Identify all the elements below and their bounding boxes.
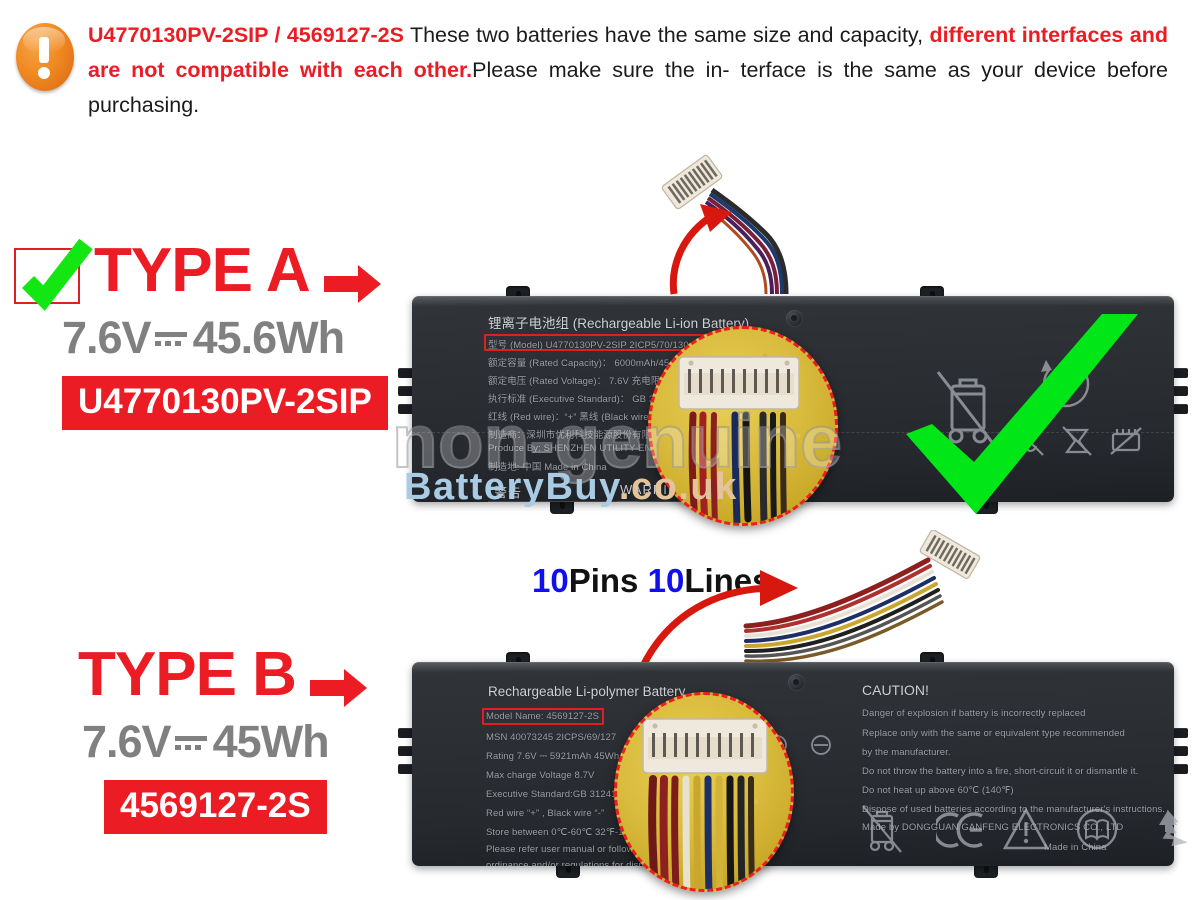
type-b-caution-row: by the manufacturer. (862, 747, 951, 758)
dc-current-icon (155, 328, 189, 354)
warning-triangle-icon (1002, 806, 1050, 852)
type-a-label-row: 红线 (Red wire)：“+” 黑线 (Black wire)：“-” (488, 409, 671, 423)
type-b-label-row: Rating 7.6V ⎓ 5921mAh 45Wh (486, 751, 619, 762)
type-b-connector-zoom (614, 692, 794, 892)
type-b-caution-row: Replace only with the same or equivalent… (862, 728, 1125, 739)
type-b-model-chip: 4569127-2S (104, 780, 327, 834)
header-notice: U4770130PV-2SIP / 4569127-2S These two b… (0, 0, 1200, 126)
type-b-label-row: Red wire “+” , Black wire “-” (486, 808, 604, 819)
arrow-right-icon (310, 667, 368, 714)
type-a-section: TYPE A 7.6V45.6Wh U4770130PV-2SIP 10Pins… (0, 140, 1200, 540)
notice-text: U4770130PV-2SIP / 4569127-2S These two b… (88, 18, 1168, 123)
battery-screw (786, 310, 803, 327)
type-b-battery: Rechargeable Li-polymer Battery Model Na… (398, 610, 1188, 890)
type-b-caution-head: CAUTION! (862, 682, 929, 698)
type-a-spec-row: 7.6V45.6Wh (62, 314, 344, 362)
type-b-caution-row: Do not throw the battery into a fire, sh… (862, 766, 1138, 777)
type-b-caution-row: Danger of explosion if battery is incorr… (862, 708, 1085, 719)
arrow-right-icon (324, 263, 382, 310)
green-check-icon (888, 306, 1158, 536)
type-b-capacity: 45Wh (213, 716, 329, 767)
type-a-voltage: 7.6V (62, 312, 151, 363)
type-a-model-chip: U4770130PV-2SIP (62, 376, 388, 430)
type-a-title: TYPE A (94, 236, 310, 305)
notice-models: U4770130PV-2SIP / 4569127-2S (88, 23, 404, 47)
notice-text-part1: These two batteries have the same size a… (410, 23, 923, 47)
type-a-warn-cn-head: 警告 (494, 482, 522, 501)
battery-side-tab (1172, 386, 1188, 396)
battery-screw (788, 674, 805, 691)
type-b-caution-row: Do not heat up above 60℃ (140℉) (862, 785, 1014, 796)
battery-side-tab (1172, 404, 1188, 414)
type-b-pins-count: 10 (532, 562, 569, 599)
type-b-title-row: TYPE B (78, 644, 368, 714)
type-b-voltage: 7.6V (82, 716, 171, 767)
type-b-pins-word: Pins (569, 562, 639, 599)
notice-text-part3: Please make sure the in- (472, 58, 729, 82)
type-a-label-row: 制造商：深圳市优利科技能源股份有限公司 (488, 427, 670, 441)
type-a-label-row: 制造地: 中国 Made in China (488, 459, 607, 473)
minus-terminal-icon (810, 734, 832, 756)
type-b-title: TYPE B (78, 640, 296, 709)
warning-exclamation-icon (14, 18, 76, 96)
battery-side-tab (1172, 368, 1188, 378)
type-a-connector-detail (651, 329, 838, 526)
type-b-spec-row: 7.6V45Wh (82, 718, 329, 766)
type-b-label-row: MSN 40073245 2ICPS/69/127 (486, 732, 616, 743)
type-b-connector-detail (617, 695, 794, 892)
recycle-icon (1144, 806, 1192, 852)
ce-mark-icon (936, 808, 988, 852)
dc-current-icon (175, 732, 209, 758)
battery-side-tab (1172, 728, 1188, 738)
green-check-box-icon (14, 248, 80, 304)
type-b-label-model: Model Name: 4569127-2S (486, 711, 599, 722)
type-a-battery: 锂离子电池组 (Rechargeable Li-ion Battery) 型号 … (398, 218, 1188, 538)
wee-bin-icon (860, 802, 904, 856)
battery-side-tab (1172, 764, 1188, 774)
type-b-section: TYPE B 7.6V45Wh 4569127-2S 10Pins 10Line… (0, 530, 1200, 890)
manual-book-icon (1074, 806, 1120, 852)
type-a-title-row: TYPE A (94, 240, 382, 310)
type-a-connector-zoom (648, 326, 838, 526)
divider (488, 501, 638, 502)
type-a-capacity: 45.6Wh (193, 312, 345, 363)
type-b-label-row: Max charge Voltage 8.7V (486, 770, 594, 781)
battery-side-tab (1172, 746, 1188, 756)
